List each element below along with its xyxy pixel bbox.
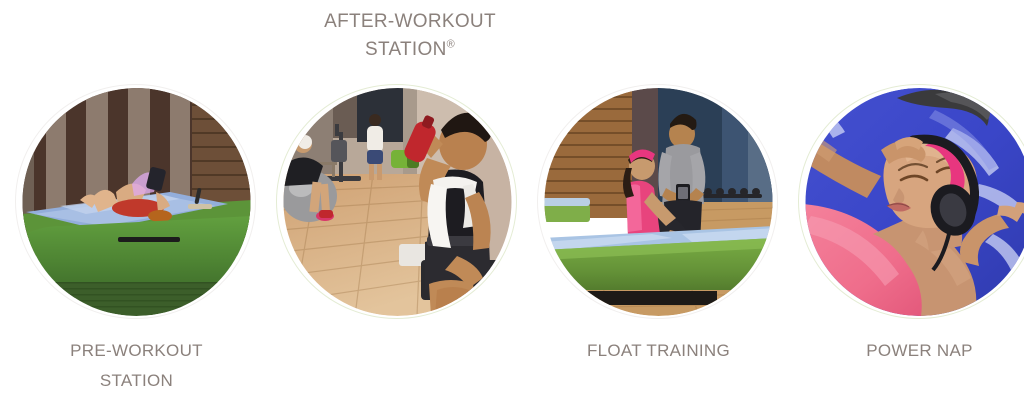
page-title-text: AFTER-WORKOUT STATION xyxy=(324,11,496,60)
scene-float-training xyxy=(542,88,775,316)
registered-mark: ® xyxy=(447,39,455,51)
tile-after-workout-station[interactable] xyxy=(281,88,514,316)
photo-pre-workout-station xyxy=(20,88,253,316)
photo-power-nap xyxy=(803,88,1024,316)
tile-float-training[interactable] xyxy=(542,88,775,316)
photo-after-workout-station xyxy=(281,88,514,316)
tile-power-nap[interactable] xyxy=(803,88,1024,316)
scene-after-workout-station xyxy=(281,88,514,316)
caption-pre-workout-station: PRE-WORKOUT STATION xyxy=(20,336,253,396)
tile-pre-workout-station[interactable] xyxy=(20,88,253,316)
photo-float-training xyxy=(542,88,775,316)
scene-power-nap xyxy=(803,88,1024,316)
scene-pre-workout-station xyxy=(20,88,253,316)
page-title: AFTER-WORKOUT STATION® xyxy=(0,8,820,64)
caption-power-nap: POWER NAP xyxy=(803,336,1024,366)
caption-float-training: FLOAT TRAINING xyxy=(542,336,775,366)
